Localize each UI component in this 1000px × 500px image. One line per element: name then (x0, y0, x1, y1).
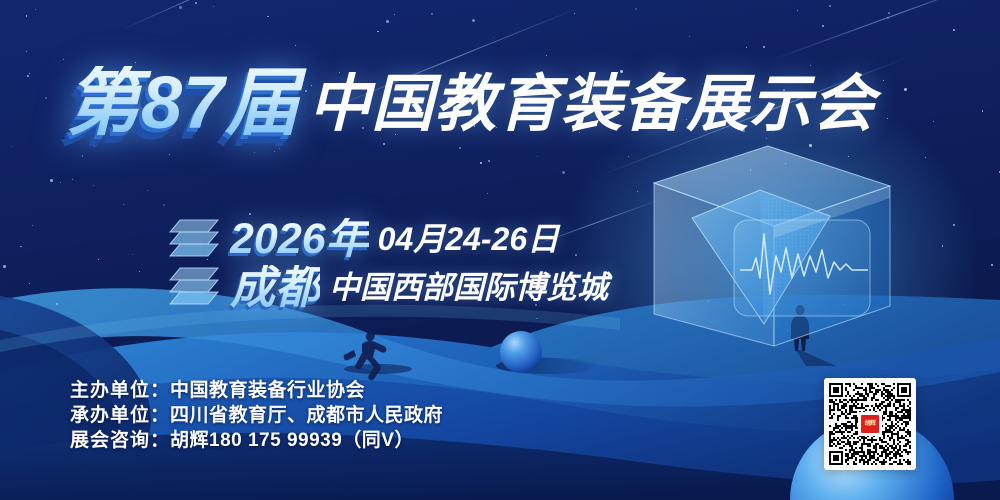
star (82, 155, 83, 156)
star (394, 14, 395, 15)
credit-label: 展会咨询： (70, 430, 170, 451)
star (213, 6, 214, 7)
star (56, 303, 58, 305)
credit-line-organizer: 主办单位：中国教育装备行业协会 (70, 378, 443, 403)
star (942, 245, 943, 246)
credit-line-host: 承办单位：四川省教育厅、成都市人民政府 (70, 403, 443, 428)
qr-code[interactable]: 胡辉 (824, 378, 916, 470)
star (295, 45, 296, 46)
star (953, 29, 955, 31)
star (628, 156, 629, 157)
star (925, 157, 926, 158)
star (386, 20, 389, 23)
star (537, 156, 538, 157)
star (574, 13, 575, 14)
star (472, 19, 475, 22)
star (689, 36, 690, 37)
star (953, 224, 955, 226)
credit-value: 四川省教育厅、成都市人民政府 (170, 405, 443, 426)
star (822, 25, 824, 27)
star (546, 55, 547, 56)
star (123, 204, 124, 205)
star (991, 264, 993, 266)
star (147, 190, 148, 191)
star (195, 2, 197, 4)
title-name: 中国教育装备展示会 (308, 74, 875, 140)
star (635, 8, 637, 10)
title-edition: 第87届 (66, 66, 308, 140)
credit-line-contact: 展会咨询：胡辉180 175 99939（同V） (70, 428, 443, 453)
star (933, 121, 934, 122)
star (3, 265, 6, 268)
qr-center-logo: 胡辉 (858, 412, 882, 436)
credit-value: 胡辉180 175 99939（同V） (170, 430, 414, 451)
star (72, 179, 73, 180)
qr-logo-text: 胡辉 (864, 421, 875, 427)
credit-label: 主办单位： (70, 380, 170, 401)
date-days: 04月24-26日 (378, 223, 559, 255)
star (904, 88, 907, 91)
star (797, 10, 798, 11)
date-year: 2026年 (230, 218, 369, 261)
star (888, 12, 890, 14)
venue-name: 中国西部国际博览城 (329, 272, 608, 303)
star (254, 152, 255, 153)
credits-block: 主办单位：中国教育装备行业协会 承办单位：四川省教育厅、成都市人民政府 展会咨询… (70, 378, 443, 453)
star (29, 283, 30, 284)
star (637, 191, 638, 192)
date-row: 2026年 04月24-26日 (166, 216, 559, 262)
star (982, 110, 983, 111)
star (829, 5, 831, 7)
star (887, 118, 888, 119)
star (179, 6, 182, 9)
star (35, 9, 36, 10)
stacked-layers-icon (166, 264, 222, 310)
star (480, 162, 482, 164)
star (459, 147, 461, 149)
star (746, 47, 747, 48)
star (575, 254, 577, 256)
meteor-streak (770, 0, 996, 61)
star (11, 146, 12, 147)
star (27, 75, 29, 77)
stacked-layers-icon (166, 216, 222, 262)
star (26, 51, 27, 52)
star (274, 151, 275, 152)
star (377, 31, 378, 32)
star (493, 37, 494, 38)
star (487, 193, 488, 194)
star (60, 182, 61, 183)
star (98, 259, 99, 260)
star (50, 179, 53, 182)
star (93, 185, 94, 186)
star (29, 73, 30, 74)
star (45, 97, 46, 98)
star (20, 246, 21, 247)
star (94, 146, 95, 147)
meteor-streak (120, 0, 267, 31)
credit-value: 中国教育装备行业协会 (170, 380, 365, 401)
star (169, 154, 170, 155)
star (431, 13, 433, 15)
star (488, 160, 490, 162)
star (26, 15, 27, 16)
star (139, 271, 140, 272)
star (562, 171, 565, 174)
star (132, 254, 133, 255)
star (763, 46, 765, 48)
star (32, 225, 33, 226)
star (883, 80, 884, 81)
exhibition-banner: 第87届 中国教育装备展示会 2026年 04月24-26日 (0, 0, 1000, 500)
glass-cube-graphic (640, 138, 900, 363)
venue-row: 成都 中国西部国际博览城 (166, 264, 608, 310)
star (163, 204, 165, 206)
star (536, 318, 537, 319)
page-title: 第87届 中国教育装备展示会 (66, 66, 875, 140)
star (267, 16, 268, 17)
star (383, 143, 385, 145)
star (279, 148, 280, 149)
venue-city: 成都 (230, 265, 320, 310)
star (63, 59, 64, 60)
credit-label: 承办单位： (70, 405, 170, 426)
